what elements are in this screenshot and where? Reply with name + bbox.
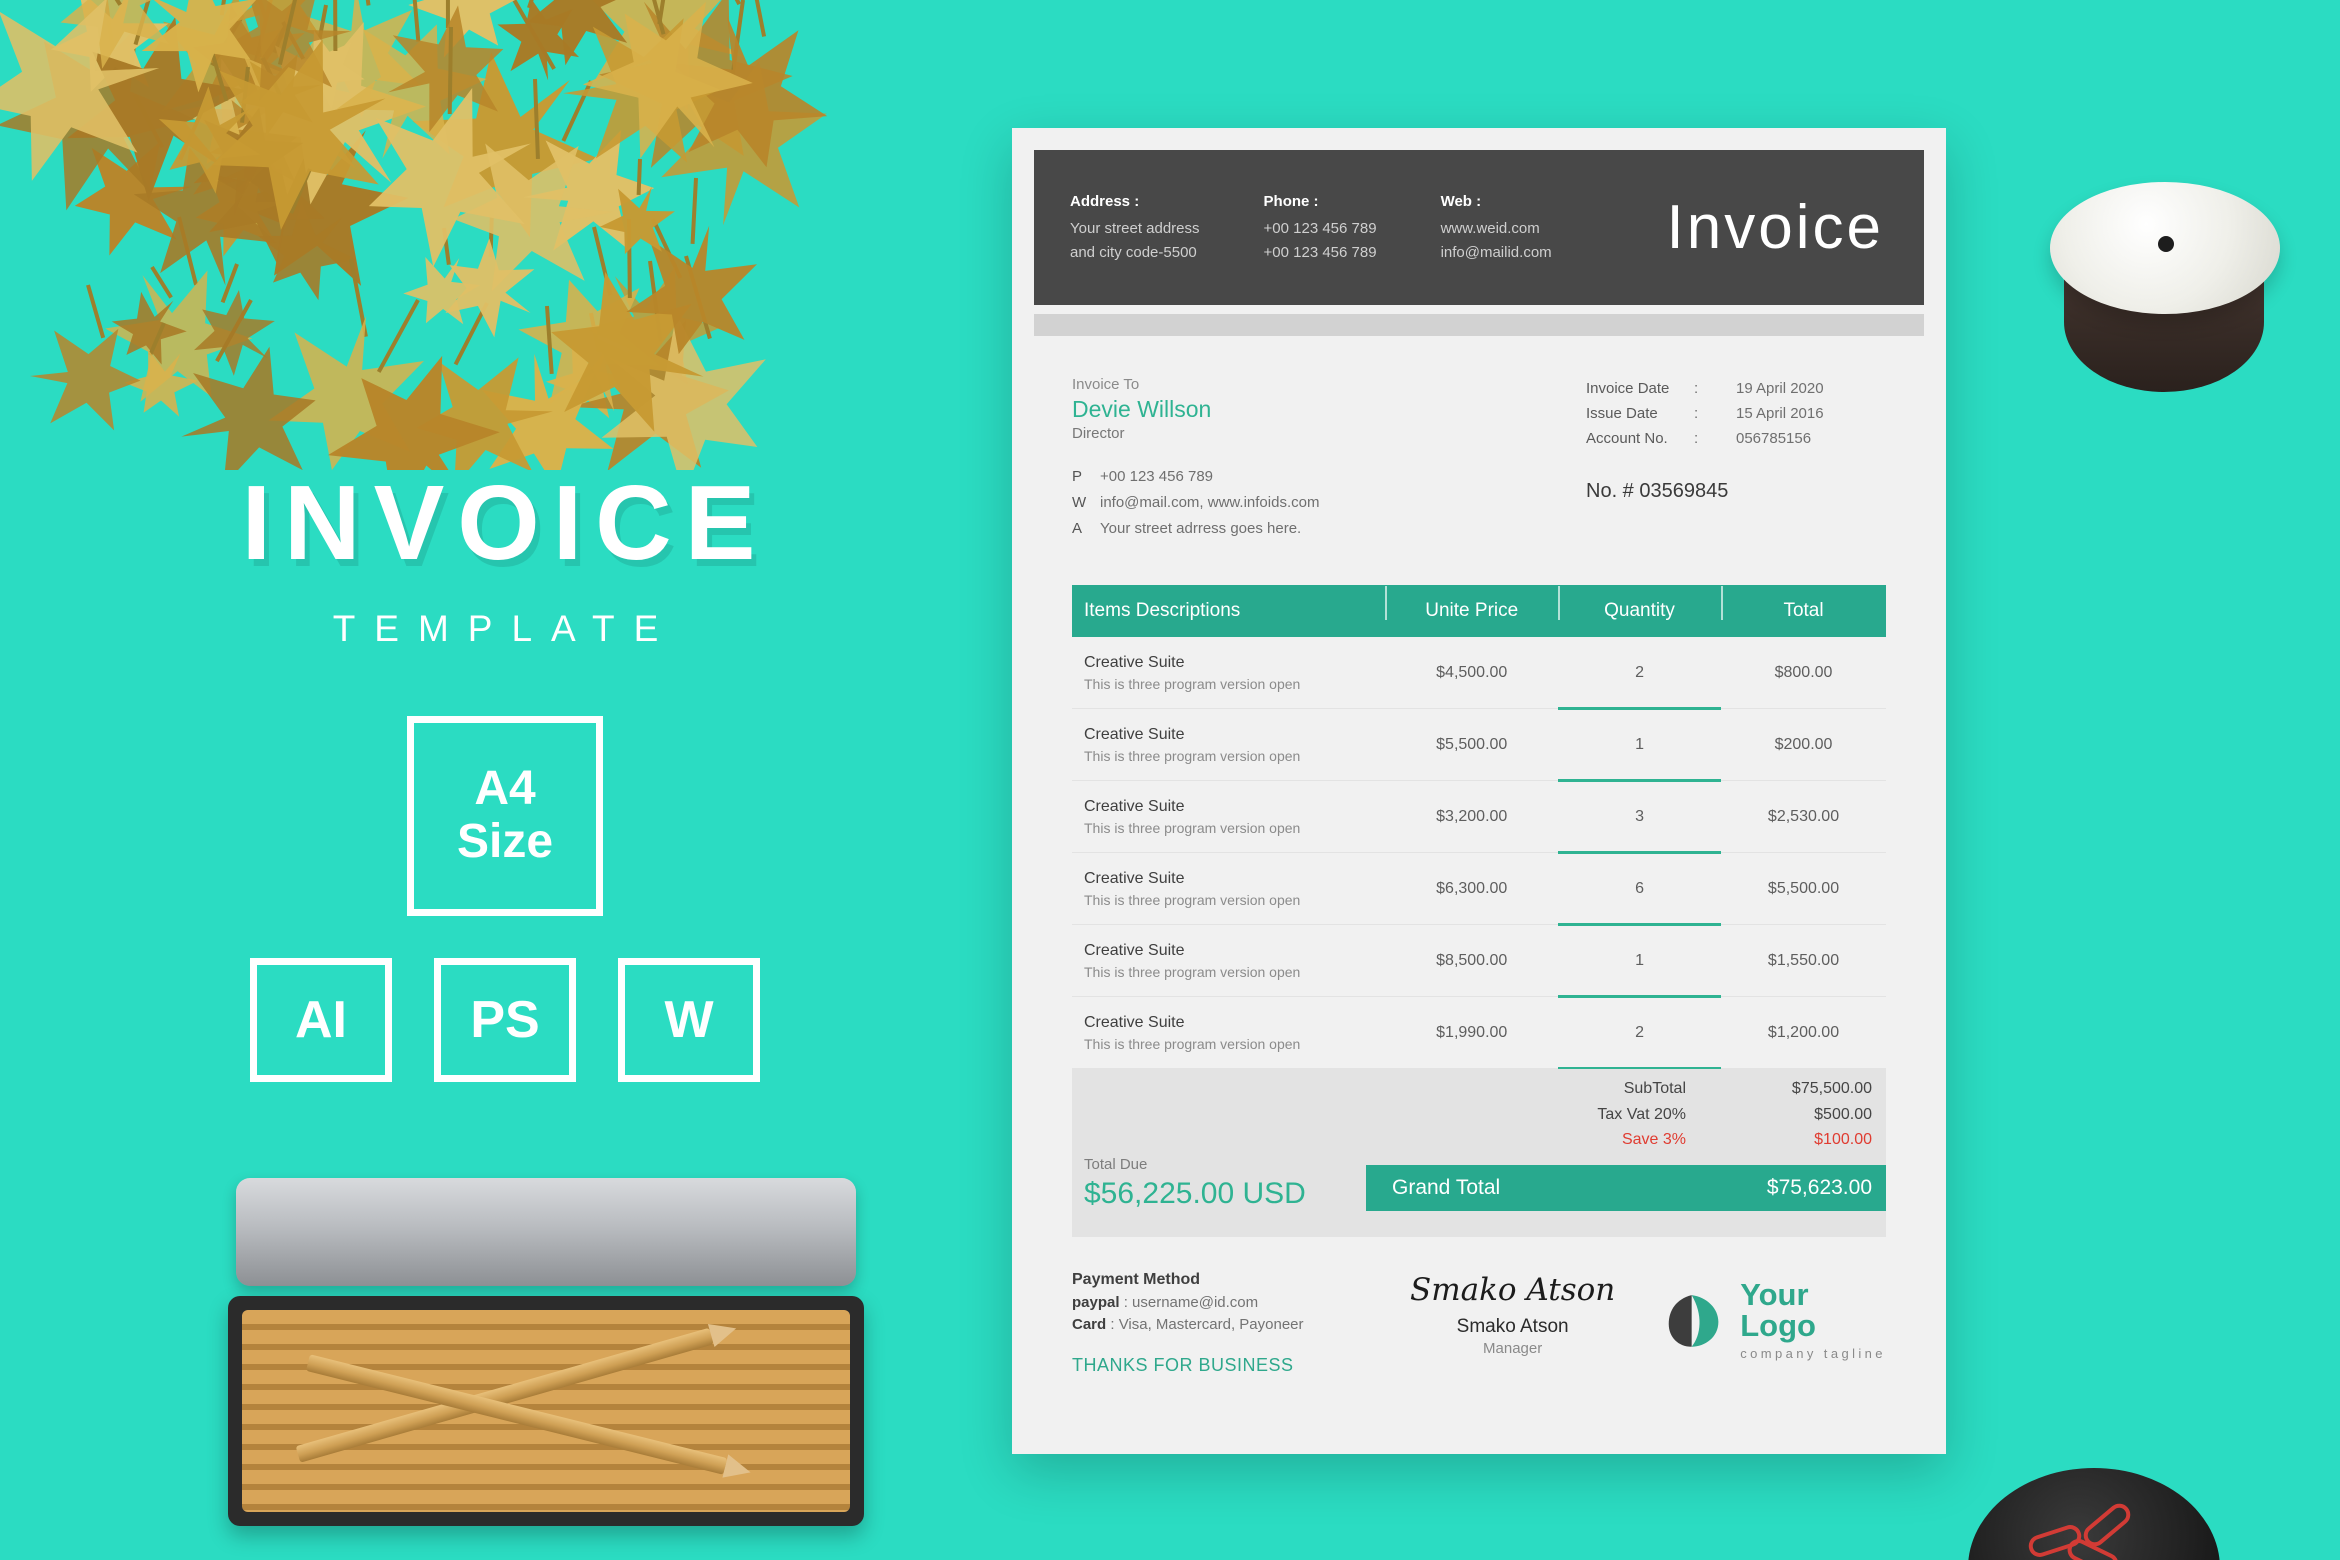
leaf-stem <box>297 57 323 141</box>
leaf-stem <box>241 67 251 123</box>
header-web-line2: info@mailid.com <box>1441 241 1552 265</box>
cell-unit-price: $5,500.00 <box>1385 736 1558 754</box>
maple-leaf <box>114 335 210 431</box>
leaf-stem <box>641 0 665 35</box>
leaf-stem <box>592 226 612 295</box>
promo-panel: INVOICE TEMPLATE A4 Size AI PS W <box>0 470 1010 1082</box>
column-header-description: Items Descriptions <box>1072 600 1385 622</box>
promo-subtitle: TEMPLATE <box>0 608 1010 650</box>
pencil-case-body <box>228 1296 864 1526</box>
total-due-block: Total Due $56,225.00 USD <box>1072 1156 1306 1211</box>
maple-leaf <box>534 326 643 435</box>
leaf-stem <box>281 21 305 60</box>
header-phone-block: Phone : +00 123 456 789 +00 123 456 789 <box>1264 190 1377 266</box>
leaf-stem <box>211 14 245 66</box>
maple-leaf <box>0 0 177 196</box>
leaf-stem <box>648 261 662 341</box>
header-address-line2: and city code-5500 <box>1070 241 1200 265</box>
header-phone-line2: +00 123 456 789 <box>1264 241 1377 265</box>
leaf-stem <box>219 0 234 16</box>
maple-leaf <box>560 310 737 470</box>
cell-description: Creative Suite This is three program ver… <box>1072 942 1385 980</box>
leaf-stem <box>252 85 268 149</box>
summary-label-tax: Tax Vat 20% <box>1452 1102 1712 1128</box>
cell-description: Creative Suite This is three program ver… <box>1072 870 1385 908</box>
summary-value-tax: $500.00 <box>1712 1102 1886 1128</box>
leaf-stem <box>149 323 167 357</box>
maple-leaf <box>300 324 532 470</box>
maple-leaf <box>255 299 443 470</box>
maple-leaf <box>240 182 375 317</box>
maple-leaf <box>147 0 313 154</box>
grand-total-bar: Grand Total $75,623.00 <box>1366 1165 1886 1211</box>
summary-label-save: Save 3% <box>1452 1127 1712 1153</box>
a4-size-line2: Size <box>457 816 553 869</box>
maple-leaf <box>202 0 345 75</box>
maple-leaf <box>156 31 381 256</box>
company-logo: Your Logo company tagline <box>1663 1271 1886 1361</box>
summary-value-save: $100.00 <box>1712 1127 1886 1153</box>
contact-value-phone: +00 123 456 789 <box>1100 464 1213 490</box>
a4-size-badge: A4 Size <box>407 716 603 916</box>
maple-leaf <box>116 0 282 111</box>
format-badge-ps: PS <box>434 958 576 1082</box>
summary-row-subtotal: SubTotal $75,500.00 <box>1366 1076 1886 1102</box>
totals-summary: Total Due $56,225.00 USD SubTotal $75,50… <box>1072 1069 1886 1237</box>
leaf-stem <box>684 255 712 339</box>
item-name: Creative Suite <box>1084 942 1385 960</box>
leaf-stem <box>177 217 198 286</box>
maple-leaf <box>217 0 359 109</box>
leaf-stem <box>448 27 453 114</box>
leaf-stem <box>637 159 642 196</box>
meta-key-account-no: Account No. <box>1586 426 1694 451</box>
cell-total: $2,530.00 <box>1721 808 1886 826</box>
meta-value-issue-date: 15 April 2016 <box>1736 401 1824 426</box>
grand-total-label: Grand Total <box>1392 1176 1500 1200</box>
maple-leaf <box>181 112 347 278</box>
column-header-quantity: Quantity <box>1558 600 1721 622</box>
cell-total: $1,550.00 <box>1721 952 1886 970</box>
leaf-stem <box>507 0 555 70</box>
maple-leaf <box>188 1 413 226</box>
maple-leaf <box>65 128 201 264</box>
cell-description: Creative Suite This is three program ver… <box>1072 1014 1385 1052</box>
bill-to-label: Invoice To <box>1072 376 1319 393</box>
logo-text-block: Your Logo company tagline <box>1740 1279 1886 1361</box>
cell-quantity: 3 <box>1558 781 1721 853</box>
thanks-message: THANKS FOR BUSINESS <box>1072 1355 1388 1376</box>
payment-paypal-value: : username@id.com <box>1120 1294 1259 1311</box>
maple-leaf <box>188 156 296 264</box>
signature-block: Smako Atson Smako Atson Manager <box>1388 1271 1637 1357</box>
item-name: Creative Suite <box>1084 726 1385 744</box>
paperclip-dish-decoration <box>1968 1468 2220 1560</box>
payment-method-title: Payment Method <box>1072 1271 1388 1289</box>
invoice-title: Invoice <box>1667 197 1884 259</box>
contact-key-web: W <box>1072 490 1100 516</box>
promo-title: INVOICE <box>0 470 1010 576</box>
maple-leaf <box>567 0 821 206</box>
maple-leaf <box>159 33 324 198</box>
leaf-stem <box>289 168 312 214</box>
column-header-total: Total <box>1721 600 1886 622</box>
table-row: Creative Suite This is three program ver… <box>1072 997 1886 1069</box>
leaf-stem <box>349 258 368 336</box>
item-description: This is three program version open <box>1084 676 1385 692</box>
maple-leaf <box>231 44 331 144</box>
leaf-stem <box>273 0 305 53</box>
maple-leaf <box>561 239 742 420</box>
maple-leaf <box>591 174 686 269</box>
pencil-case-decoration <box>228 1178 864 1560</box>
cell-description: Creative Suite This is three program ver… <box>1072 654 1385 692</box>
leaf-stem <box>410 0 420 41</box>
item-description: This is three program version open <box>1084 820 1385 836</box>
cell-unit-price: $6,300.00 <box>1385 880 1558 898</box>
item-name: Creative Suite <box>1084 1014 1385 1032</box>
maple-leaf <box>529 256 726 453</box>
leaf-stem <box>98 0 115 52</box>
cell-quantity: 1 <box>1558 709 1721 781</box>
maple-leaf <box>28 321 143 436</box>
cell-unit-price: $1,990.00 <box>1385 1024 1558 1042</box>
maple-leaf <box>558 0 782 193</box>
contact-row-web: W info@mail.com, www.infoids.com <box>1072 490 1319 516</box>
maple-leaf <box>490 0 588 88</box>
item-name: Creative Suite <box>1084 798 1385 816</box>
pencil-stack <box>242 1310 850 1512</box>
header-web-label: Web : <box>1441 190 1552 214</box>
grand-total-value: $75,623.00 <box>1767 1176 1872 1200</box>
contact-value-web: info@mail.com, www.infoids.com <box>1100 490 1319 516</box>
leaf-stem <box>488 209 493 256</box>
leaf-stem <box>242 130 250 177</box>
meta-sep-account-no: : <box>1694 426 1736 451</box>
signature-name: Smako Atson <box>1388 1316 1637 1338</box>
leaf-stem <box>561 81 592 142</box>
cell-total: $1,200.00 <box>1721 1024 1886 1042</box>
contact-key-address: A <box>1072 516 1100 542</box>
leaf-logo-icon <box>1663 1288 1724 1352</box>
format-badge-word: W <box>618 958 760 1082</box>
item-description: This is three program version open <box>1084 1036 1385 1052</box>
maple-leaf <box>38 0 186 113</box>
contact-row-address: A Your street adrress goes here. <box>1072 516 1319 542</box>
maple-leaf <box>164 333 334 470</box>
contact-value-address: Your street adrress goes here. <box>1100 516 1301 542</box>
bill-to-role: Director <box>1072 425 1319 442</box>
payment-paypal-line: paypal : username@id.com <box>1072 1294 1388 1311</box>
format-badge-ai: AI <box>250 958 392 1082</box>
maple-leaf <box>503 257 680 434</box>
leaf-stem <box>67 0 122 6</box>
maple-leaf <box>393 241 492 340</box>
item-name: Creative Suite <box>1084 654 1385 672</box>
maple-leaf <box>178 277 292 391</box>
maple-leaf <box>120 129 294 303</box>
invoice-meta-block: Invoice Date : 19 April 2020 Issue Date … <box>1586 376 1886 541</box>
leaf-stem <box>454 302 489 365</box>
meta-key-invoice-date: Invoice Date <box>1586 376 1694 401</box>
maple-leaf <box>99 277 200 378</box>
bill-to-name: Devie Willson <box>1072 396 1319 423</box>
maple-leaf <box>615 210 774 369</box>
maple-leaf <box>565 284 802 470</box>
cell-unit-price: $4,500.00 <box>1385 664 1558 682</box>
total-due-label: Total Due <box>1084 1156 1306 1173</box>
header-web-block: Web : www.weid.com info@mailid.com <box>1441 190 1552 266</box>
payment-card-line: Card : Visa, Mastercard, Payoneer <box>1072 1316 1388 1333</box>
leaf-stem <box>657 0 674 24</box>
item-description: This is three program version open <box>1084 964 1385 980</box>
invoice-footer: Payment Method paypal : username@id.com … <box>1034 1237 1924 1376</box>
maple-leaf <box>449 132 617 300</box>
leaf-stem <box>278 0 303 64</box>
table-row: Creative Suite This is three program ver… <box>1072 637 1886 709</box>
signature-mark: Smako Atson <box>1388 1275 1637 1306</box>
items-table-header: Items Descriptions Unite Price Quantity … <box>1072 585 1886 637</box>
maple-leaf <box>512 0 652 77</box>
invoice-header: Address : Your street address and city c… <box>1034 150 1924 305</box>
meta-sep-invoice-date: : <box>1694 376 1736 401</box>
cell-description: Creative Suite This is three program ver… <box>1072 726 1385 764</box>
cell-quantity: 6 <box>1558 853 1721 925</box>
maple-leaf <box>652 0 842 187</box>
pencil-case-lid <box>236 1178 856 1286</box>
maple-leaf <box>206 0 460 242</box>
payment-card-key: Card <box>1072 1316 1106 1333</box>
meta-row-account-no: Account No. : 056785156 <box>1586 426 1886 451</box>
maple-leaf <box>467 343 624 470</box>
maple-leaf <box>179 11 419 251</box>
column-header-unit-price: Unite Price <box>1385 600 1558 622</box>
meta-value-invoice-date: 19 April 2020 <box>1736 376 1824 401</box>
logo-name: Your Logo <box>1740 1279 1886 1341</box>
maple-leaf <box>408 344 561 470</box>
leaf-stem <box>247 0 268 21</box>
leaf-stem <box>150 266 172 299</box>
maple-leaf <box>367 0 526 150</box>
leaf-stem <box>747 0 766 36</box>
summary-label-subtotal: SubTotal <box>1452 1076 1712 1102</box>
invoice-meta-section: Invoice To Devie Willson Director P +00 … <box>1034 336 1924 541</box>
payment-card-value: : Visa, Mastercard, Payoneer <box>1106 1316 1303 1333</box>
leaf-stem <box>86 284 105 338</box>
maple-leaf <box>34 0 283 235</box>
maple-leaf <box>43 0 195 81</box>
leaf-stem <box>442 228 451 265</box>
maple-leaf <box>198 79 323 204</box>
maple-leaf <box>270 16 378 124</box>
summary-row-tax: Tax Vat 20% $500.00 <box>1366 1102 1886 1128</box>
leaf-stem <box>691 178 698 244</box>
maple-leaf <box>180 95 313 228</box>
format-badge-row: AI PS W <box>0 958 1010 1082</box>
contact-key-phone: P <box>1072 464 1100 490</box>
signature-role: Manager <box>1388 1340 1637 1357</box>
cell-total: $200.00 <box>1721 736 1886 754</box>
leaf-stem <box>133 94 164 148</box>
cell-total: $800.00 <box>1721 664 1886 682</box>
foliage-decoration <box>0 0 1000 470</box>
meta-row-invoice-date: Invoice Date : 19 April 2020 <box>1586 376 1886 401</box>
invoice-document: Address : Your street address and city c… <box>1012 128 1946 1454</box>
maple-leaf <box>388 0 541 80</box>
maple-leaf <box>641 43 841 243</box>
maple-leaf <box>139 67 282 210</box>
header-web-line1: www.weid.com <box>1441 217 1552 241</box>
header-phone-line1: +00 123 456 789 <box>1264 217 1377 241</box>
leaf-stem <box>178 94 211 161</box>
meta-sep-issue-date: : <box>1694 401 1736 426</box>
table-row: Creative Suite This is three program ver… <box>1072 709 1886 781</box>
payment-method-block: Payment Method paypal : username@id.com … <box>1072 1271 1388 1376</box>
summary-lines: SubTotal $75,500.00 Tax Vat 20% $500.00 … <box>1366 1076 1886 1212</box>
table-row: Creative Suite This is three program ver… <box>1072 781 1886 853</box>
poster-canvas: INVOICE TEMPLATE A4 Size AI PS W <box>0 0 2340 1560</box>
leaf-stem <box>527 0 544 9</box>
maple-leaf <box>315 0 504 186</box>
bill-to-contacts: P +00 123 456 789 W info@mail.com, www.i… <box>1072 464 1319 541</box>
payment-paypal-key: paypal <box>1072 1294 1120 1311</box>
maple-leaf <box>290 0 427 121</box>
leaf-stem <box>248 0 272 82</box>
maple-leaf <box>561 12 721 172</box>
leaf-stem <box>134 0 162 46</box>
header-address-line1: Your street address <box>1070 217 1200 241</box>
leaf-stem <box>333 0 337 51</box>
item-description: This is three program version open <box>1084 748 1385 764</box>
item-description: This is three program version open <box>1084 892 1385 908</box>
contact-row-phone: P +00 123 456 789 <box>1072 464 1319 490</box>
leaf-stem <box>627 219 632 298</box>
leaf-stem <box>730 0 745 84</box>
leaf-stem <box>652 218 683 279</box>
leaf-stem <box>317 5 328 43</box>
summary-value-subtotal: $75,500.00 <box>1712 1076 1886 1102</box>
maple-leaf <box>82 241 273 432</box>
bowl-decoration <box>2050 182 2280 392</box>
header-address-block: Address : Your street address and city c… <box>1070 190 1200 266</box>
cell-unit-price: $3,200.00 <box>1385 808 1558 826</box>
cell-quantity: 2 <box>1558 997 1721 1069</box>
maple-leaf <box>518 123 658 263</box>
meta-value-account-no: 056785156 <box>1736 426 1811 451</box>
bill-to-block: Invoice To Devie Willson Director P +00 … <box>1072 376 1319 541</box>
a4-size-line1: A4 <box>474 763 535 816</box>
maple-leaf <box>380 17 634 271</box>
table-row: Creative Suite This is three program ver… <box>1072 925 1886 997</box>
cell-description: Creative Suite This is three program ver… <box>1072 798 1385 836</box>
leaf-stem <box>376 299 419 373</box>
leaf-stem <box>220 264 238 304</box>
maple-leaf <box>557 0 776 136</box>
leaf-stem <box>215 299 252 362</box>
maple-leaf <box>178 0 316 131</box>
cell-quantity: 2 <box>1558 637 1721 709</box>
logo-tagline: company tagline <box>1740 1346 1886 1361</box>
leaf-stem <box>589 312 601 352</box>
invoice-number: No. # 03569845 <box>1586 480 1886 503</box>
header-accent-bar <box>1034 314 1924 336</box>
leaf-stem <box>694 0 741 5</box>
maple-leaf <box>0 0 230 250</box>
leaf-stem <box>446 0 450 28</box>
maple-leaf <box>337 63 562 288</box>
total-due-value: $56,225.00 USD <box>1084 1177 1306 1211</box>
table-row: Creative Suite This is three program ver… <box>1072 853 1886 925</box>
leaf-stem <box>358 0 370 6</box>
header-address-label: Address : <box>1070 190 1200 214</box>
items-table: Items Descriptions Unite Price Quantity … <box>1072 585 1886 1069</box>
leaf-stem <box>533 79 540 160</box>
bowl-knob <box>2158 236 2174 252</box>
cell-unit-price: $8,500.00 <box>1385 952 1558 970</box>
meta-row-issue-date: Issue Date : 15 April 2016 <box>1586 401 1886 426</box>
leaf-stem <box>261 57 285 103</box>
leaf-stem <box>545 305 554 373</box>
item-name: Creative Suite <box>1084 870 1385 888</box>
header-phone-label: Phone : <box>1264 190 1377 214</box>
maple-leaf <box>201 85 438 322</box>
summary-row-save: Save 3% $100.00 <box>1366 1127 1886 1153</box>
meta-key-issue-date: Issue Date <box>1586 401 1694 426</box>
cell-quantity: 1 <box>1558 925 1721 997</box>
cell-total: $5,500.00 <box>1721 880 1886 898</box>
maple-leaf <box>425 225 554 354</box>
leaf-stem <box>210 52 228 102</box>
